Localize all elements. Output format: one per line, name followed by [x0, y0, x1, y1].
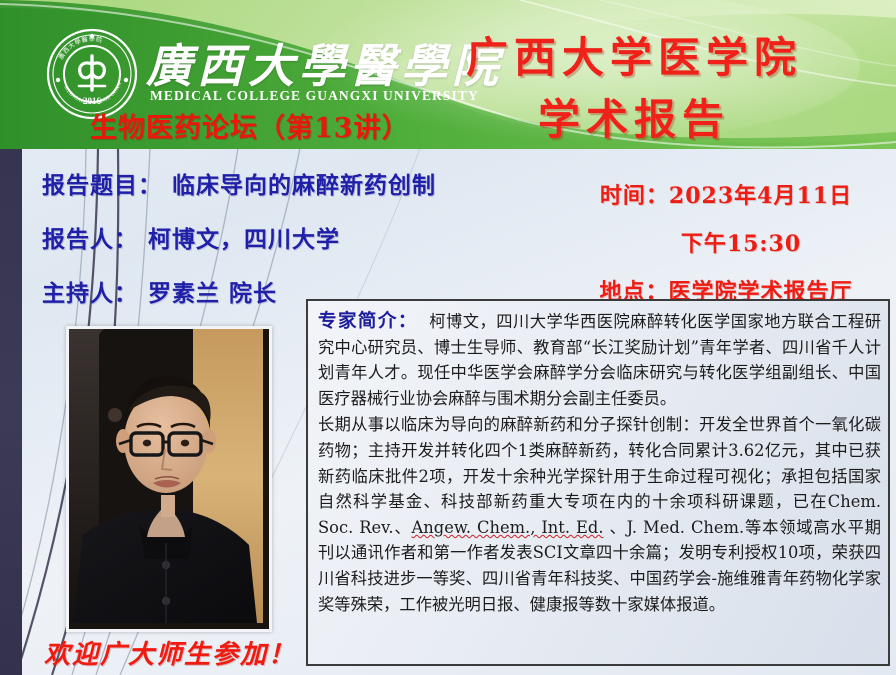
- talk-topic-label: 报告题目：: [42, 172, 162, 199]
- institution-name-cn: 廣西大學醫學院: [146, 30, 503, 96]
- talk-speaker-value: 柯博文，四川大学: [148, 226, 340, 253]
- poster-title-line1: 广西大学医学院: [466, 24, 802, 85]
- talk-topic-row: 报告题目：临床导向的麻醉新药创制: [42, 166, 436, 200]
- bio-journal-angewandte: Angew. Chem., Int. Ed.: [412, 518, 604, 537]
- bio-heading: 专家简介：: [318, 311, 418, 332]
- talk-host-value: 罗素兰 院长: [148, 280, 277, 307]
- welcome-message: 欢迎广大师生参加！: [44, 634, 296, 671]
- bio-paragraph-1: 专家简介：柯博文，四川大学华西医院麻醉转化医学国家地方联合工程研究中心研究员、博…: [318, 309, 881, 411]
- speaker-photo: [66, 326, 272, 632]
- talk-time-date: 2023年4月11日: [669, 183, 852, 209]
- left-accent-bar: [0, 148, 22, 675]
- institution-name-en: MEDICAL COLLEGE GUANGXI UNIVERSITY: [150, 88, 479, 104]
- poster-header: 2016 廣西大學醫學院 MEDICAL COLLEGE GUANGXI UNI…: [0, 0, 896, 149]
- bio-paragraph-2: 长期从事以临床为导向的麻醉新药和分子探针创制：开发全世界首个一氧化碳药物；主持开…: [318, 412, 881, 617]
- speaker-bio-box: 专家简介：柯博文，四川大学华西医院麻醉转化医学国家地方联合工程研究中心研究员、博…: [306, 299, 890, 666]
- talk-topic-value: 临床导向的麻醉新药创制: [172, 172, 436, 199]
- forum-series-label: 生物医药论坛（第13讲）: [90, 106, 410, 145]
- poster-title-line2: 学术报告: [538, 86, 730, 147]
- talk-speaker-label: 报告人：: [42, 226, 138, 253]
- talk-time-clock: 下午15:30: [681, 231, 801, 257]
- talk-clock-row: 下午15:30: [556, 226, 896, 258]
- seminar-poster: 2016 廣西大學醫學院 MEDICAL COLLEGE GUANGXI UNI…: [0, 0, 896, 675]
- talk-host-label: 主持人：: [42, 280, 138, 307]
- talk-time-label: 时间：: [600, 183, 669, 209]
- talk-speaker-row: 报告人：柯博文，四川大学: [42, 220, 436, 254]
- talk-time-row: 时间：2023年4月11日: [556, 178, 896, 210]
